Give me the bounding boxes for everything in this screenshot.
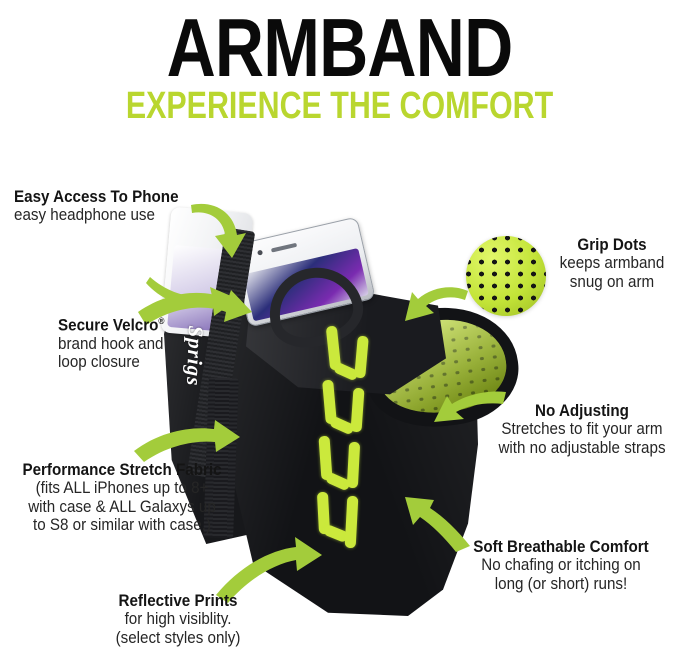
callout-line: for high visiblity.	[75, 610, 281, 629]
callout-line: with no adjustable straps	[494, 439, 671, 458]
callout-no-adjusting: No Adjusting Stretches to fit your arm w…	[486, 402, 678, 457]
callout-line: No chafing or itching on	[453, 556, 668, 575]
phone-sensor-icon	[257, 250, 263, 256]
grip-dots-swatch	[466, 236, 546, 316]
page-title: ARMBAND	[61, 6, 618, 90]
callout-line: (fits ALL iPhones up to 8+	[13, 479, 230, 498]
callout-heading: Reflective Prints	[75, 592, 281, 610]
phone-speaker-icon	[271, 243, 297, 253]
infographic-canvas: ARMBAND EXPERIENCE THE COMFORT Sprigs	[0, 0, 679, 664]
callout-line: keeps armband	[553, 254, 671, 273]
registered-trademark-icon: ®	[158, 316, 164, 326]
callout-performance-stretch-fabric: Performance Stretch Fabric (fits ALL iPh…	[4, 461, 240, 535]
callout-line: snug on arm	[553, 273, 671, 292]
callout-easy-access: Easy Access To Phone easy headphone use	[14, 188, 193, 225]
callout-line: Stretches to fit your arm	[494, 420, 671, 439]
page-subtitle: EXPERIENCE THE COMFORT	[68, 86, 611, 126]
brand-wordmark: Sprigs	[181, 325, 208, 387]
header: ARMBAND EXPERIENCE THE COMFORT	[0, 0, 679, 126]
callout-heading: No Adjusting	[494, 402, 671, 420]
callout-heading-text: Secure Velcro	[58, 317, 158, 335]
callout-reflective-prints: Reflective Prints for high visiblity. (s…	[66, 592, 290, 647]
callout-line: to S8 or similar with case.)	[13, 516, 230, 535]
callout-line: easy headphone use	[14, 206, 179, 225]
callout-secure-velcro: Secure Velcro® brand hook and loop closu…	[58, 312, 174, 372]
callout-heading: Easy Access To Phone	[14, 188, 179, 206]
callout-heading: Grip Dots	[553, 236, 671, 254]
grip-dots-texture	[466, 236, 546, 316]
callout-heading: Secure Velcro®	[58, 312, 165, 335]
callout-line: (select styles only)	[75, 629, 281, 648]
callout-grip-dots: Grip Dots keeps armband snug on arm	[548, 236, 676, 291]
callout-line: loop closure	[58, 353, 165, 372]
callout-line: with case & ALL Galaxys up	[13, 498, 230, 517]
callout-soft-breathable-comfort: Soft Breathable Comfort No chafing or it…	[444, 538, 678, 593]
callout-heading: Performance Stretch Fabric	[13, 461, 230, 479]
callout-line: long (or short) runs!	[453, 575, 668, 594]
callout-heading: Soft Breathable Comfort	[453, 538, 668, 556]
callout-line: brand hook and	[58, 335, 165, 354]
